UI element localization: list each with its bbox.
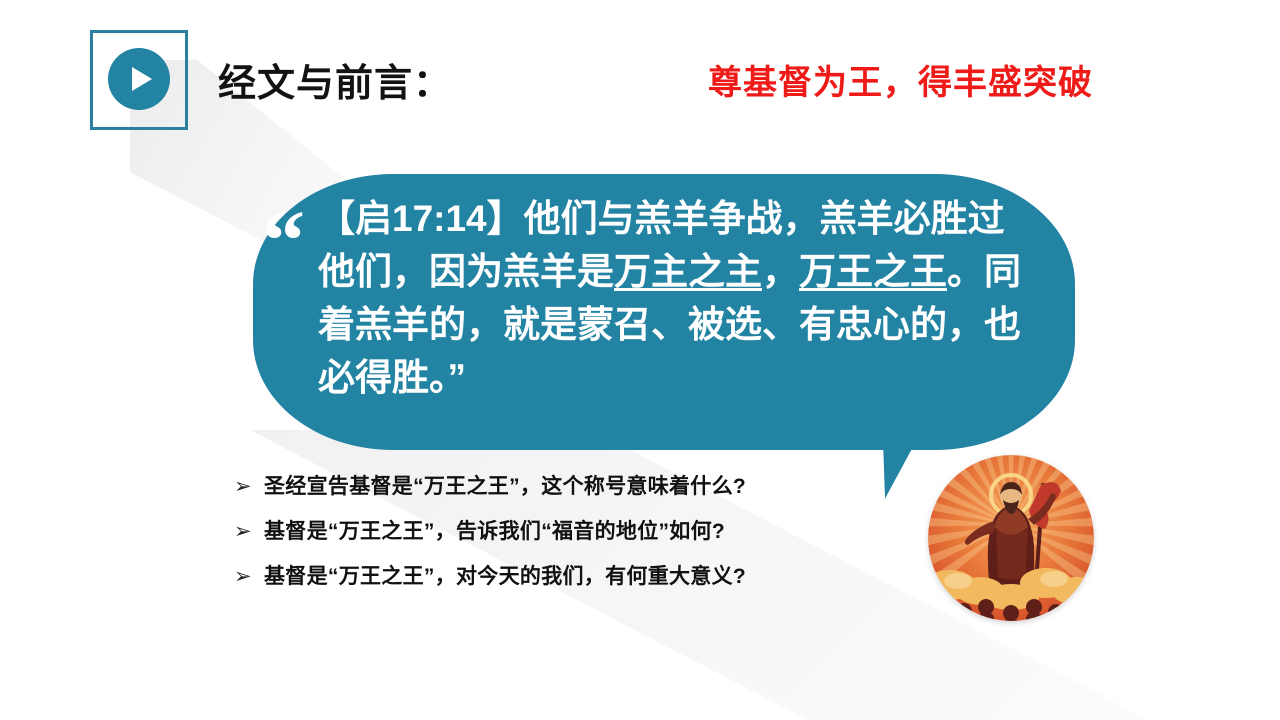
play-triangle-glyph <box>132 67 152 91</box>
risen-christ-illustration <box>928 455 1094 621</box>
quote-emphasis-lord-of-lords: 万主之主 <box>614 251 762 292</box>
question-list: ➢ 圣经宣告基督是“万王之王”，这个称号意味着什么? ➢ 基督是“万王之王”，告… <box>234 470 934 605</box>
page-title: 经文与前言： <box>218 52 452 107</box>
list-item-label: 基督是“万王之王”，对今天的我们，有何重大意义? <box>264 560 746 590</box>
quote-body: 【启17:14】他们与羔羊争战，羔羊必胜过他们，因为羔羊是万主之主，万王之王。同… <box>318 192 1038 404</box>
arrow-bullet-icon: ➢ <box>234 476 264 497</box>
quote-line1: 他们与羔羊争战，羔羊 <box>524 198 894 239</box>
slide-header: 经文与前言： 尊基督为王，得丰盛突破 <box>0 0 1280 150</box>
play-button-icon[interactable] <box>108 48 170 110</box>
list-item-label: 圣经宣告基督是“万王之王”，这个称号意味着什么? <box>264 470 746 500</box>
list-item: ➢ 圣经宣告基督是“万王之王”，这个称号意味着什么? <box>234 470 934 515</box>
arrow-bullet-icon: ➢ <box>234 566 264 587</box>
arrow-bullet-icon: ➢ <box>234 521 264 542</box>
open-quote-icon: “ <box>262 197 305 283</box>
list-item: ➢ 基督是“万王之王”，对今天的我们，有何重大意义? <box>234 560 934 605</box>
header-subtitle: 尊基督为王，得丰盛突破 <box>708 55 1093 104</box>
close-quote-icon: ” <box>448 357 467 398</box>
quote-reference: 【启17:14】 <box>318 198 524 239</box>
quote-line2b: ， <box>762 251 799 292</box>
slide-canvas: 经文与前言： 尊基督为王，得丰盛突破 “ 【启17:14】他们与羔羊争战，羔羊必… <box>0 0 1280 720</box>
list-item: ➢ 基督是“万王之王”，告诉我们“福音的地位”如何? <box>234 515 934 560</box>
quote-emphasis-king-of-kings: 万王之王 <box>799 251 947 292</box>
list-item-label: 基督是“万王之王”，告诉我们“福音的地位”如何? <box>264 515 725 545</box>
